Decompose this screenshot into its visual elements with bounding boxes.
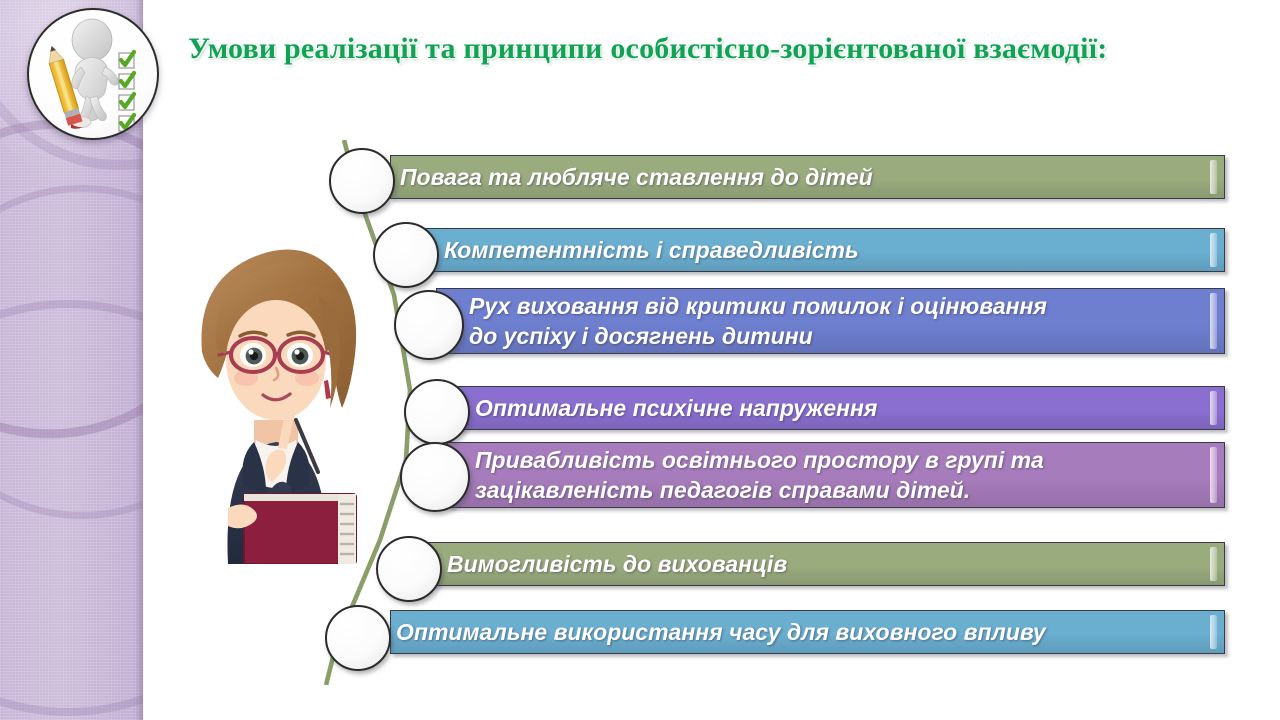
principle-node-circle-3[interactable] [394,290,464,360]
principle-bar-1[interactable]: Повага та любляче ставлення до дітей [390,155,1225,199]
principle-bar-label-1: Повага та любляче ставлення до дітей [400,163,873,191]
principle-node-circle-7[interactable] [325,605,391,671]
slide-canvas: Умови реалізації та принципи особистісно… [0,0,1280,720]
principle-node-circle-2[interactable] [373,222,439,288]
bar-highlight-stripe [1210,547,1217,581]
principle-bar-2[interactable]: Компетентність і справедливість [425,228,1225,272]
principle-bar-label-6: Вимогливість до вихованців [447,550,787,578]
checklist-mannequin-logo [27,8,159,140]
principle-node-circle-6[interactable] [376,536,442,602]
bar-highlight-stripe [1210,391,1217,425]
principle-bar-label-2: Компетентність і справедливість [444,236,859,264]
principle-bar-6[interactable]: Вимогливість до вихованців [425,542,1225,586]
principle-bar-label-3: Рух виховання від критики помилок і оцін… [469,291,1047,351]
principle-bar-label-7: Оптимальне використання часу для виховно… [396,618,1046,646]
principle-bar-4[interactable]: Оптимальне психічне напруження [447,386,1225,430]
principle-bar-label-5: Привабливість освітнього простору в груп… [475,445,1044,505]
principle-bar-label-4: Оптимальне психічне напруження [475,394,877,422]
principle-bar-5[interactable]: Привабливість освітнього простору в груп… [447,442,1225,508]
bar-highlight-stripe [1210,615,1217,649]
principle-bar-3[interactable]: Рух виховання від критики помилок і оцін… [436,288,1225,354]
sidebar-arc-3 [0,300,143,716]
bar-highlight-stripe [1210,233,1217,267]
principle-bar-7[interactable]: Оптимальне використання часу для виховно… [390,610,1225,654]
bar-highlight-stripe [1210,160,1217,194]
principle-node-circle-1[interactable] [329,148,395,214]
bar-highlight-stripe [1210,447,1217,503]
principle-node-circle-4[interactable] [404,379,470,445]
bar-highlight-stripe [1210,293,1217,349]
principle-node-circle-5[interactable] [400,442,470,512]
slide-title: Умови реалізації та принципи особистісно… [188,30,1198,68]
